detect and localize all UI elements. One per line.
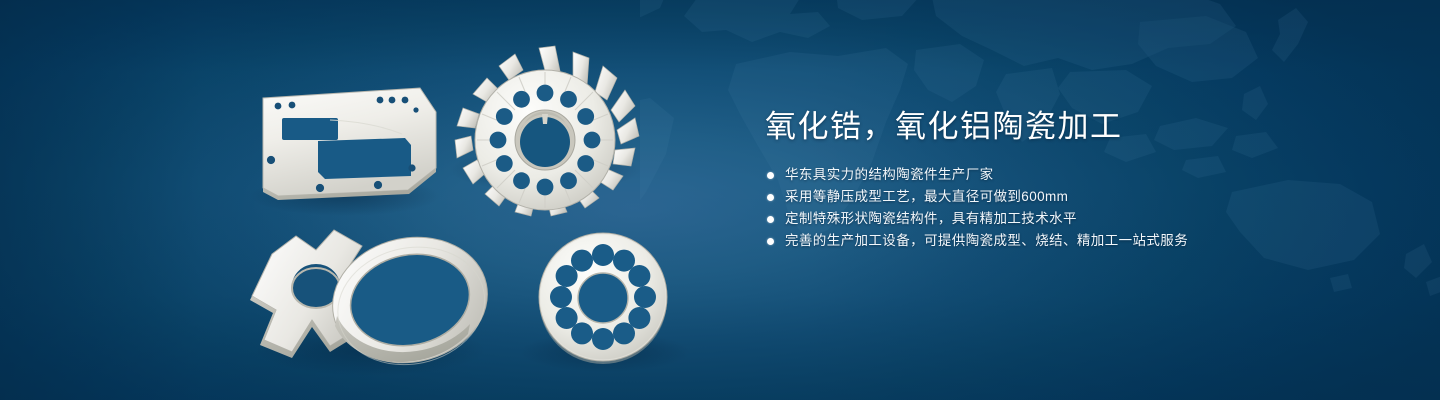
bullet-dot-icon	[767, 216, 774, 223]
ceramic-impeller-disc	[455, 46, 639, 216]
feature-text: 定制特殊形状陶瓷结构件，具有精加工技术水平	[785, 208, 1077, 230]
feature-text: 华东具实力的结构陶瓷件生产厂家	[785, 164, 994, 186]
list-item: 完善的生产加工设备，可提供陶瓷成型、烧结、精加工一站式服务	[762, 230, 1382, 252]
product-photo-group	[0, 0, 740, 400]
promo-banner: 氧化锆，氧化铝陶瓷加工 华东具实力的结构陶瓷件生产厂家 采用等静压成型工艺，最大…	[0, 0, 1440, 400]
feature-text: 完善的生产加工设备，可提供陶瓷成型、烧结、精加工一站式服务	[785, 230, 1188, 252]
ceramic-perforated-disc	[539, 233, 667, 364]
ceramic-machined-plate	[263, 88, 436, 200]
list-item: 华东具实力的结构陶瓷件生产厂家	[762, 164, 1382, 186]
list-item: 定制特殊形状陶瓷结构件，具有精加工技术水平	[762, 208, 1382, 230]
banner-copy: 氧化锆，氧化铝陶瓷加工 华东具实力的结构陶瓷件生产厂家 采用等静压成型工艺，最大…	[762, 106, 1382, 252]
banner-headline: 氧化锆，氧化铝陶瓷加工	[765, 106, 1382, 148]
feature-text: 采用等静压成型工艺，最大直径可做到600mm	[785, 186, 1068, 208]
list-item: 采用等静压成型工艺，最大直径可做到600mm	[762, 186, 1382, 208]
bullet-dot-icon	[767, 238, 774, 245]
bullet-dot-icon	[767, 194, 774, 201]
feature-list: 华东具实力的结构陶瓷件生产厂家 采用等静压成型工艺，最大直径可做到600mm 定…	[762, 164, 1382, 252]
bullet-dot-icon	[767, 172, 774, 179]
